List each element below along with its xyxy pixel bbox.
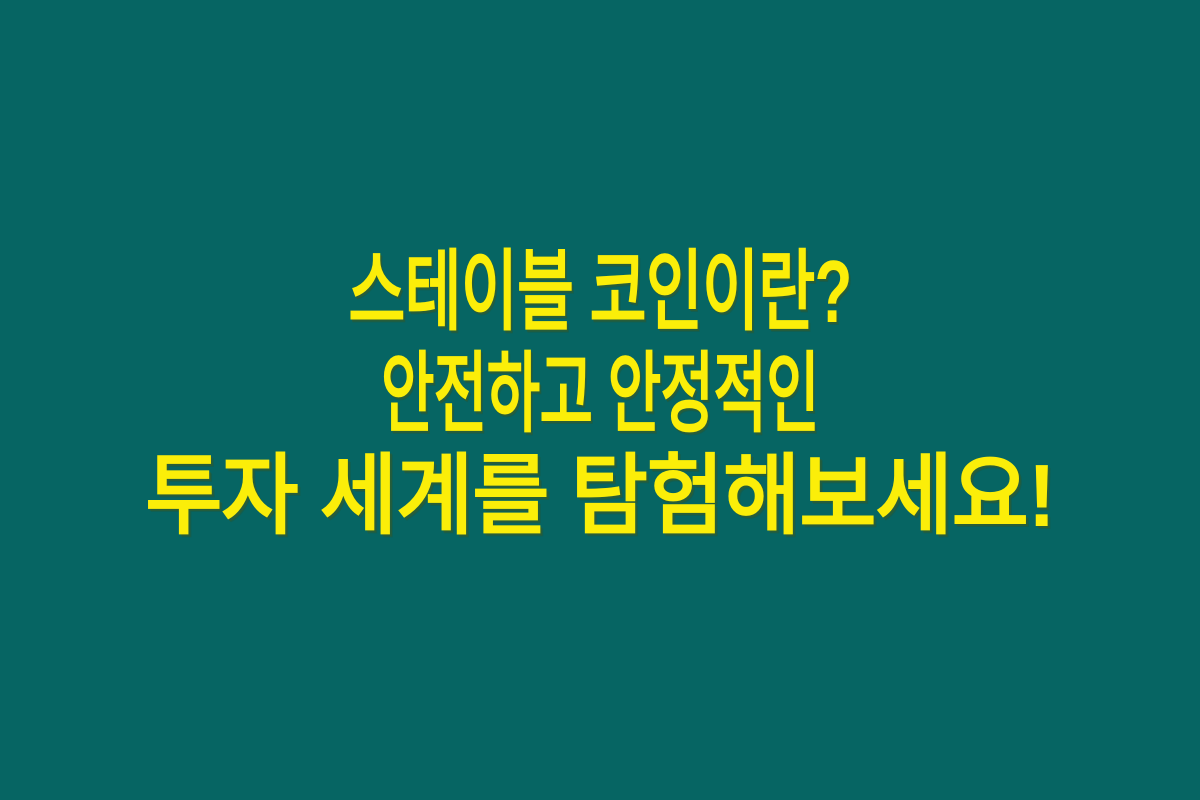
headline-line-1: 스테이블 코인이란?	[185, 241, 1015, 343]
headline-block: 스테이블 코인이란? 안전하고 안정적인 투자 세계를 탐험해보세요!	[0, 241, 1200, 547]
promo-banner: 스테이블 코인이란? 안전하고 안정적인 투자 세계를 탐험해보세요!	[0, 0, 1200, 800]
headline-line-2: 안전하고 안정적인	[210, 343, 990, 445]
headline-line-3: 투자 세계를 탐험해보세요!	[37, 445, 1162, 547]
